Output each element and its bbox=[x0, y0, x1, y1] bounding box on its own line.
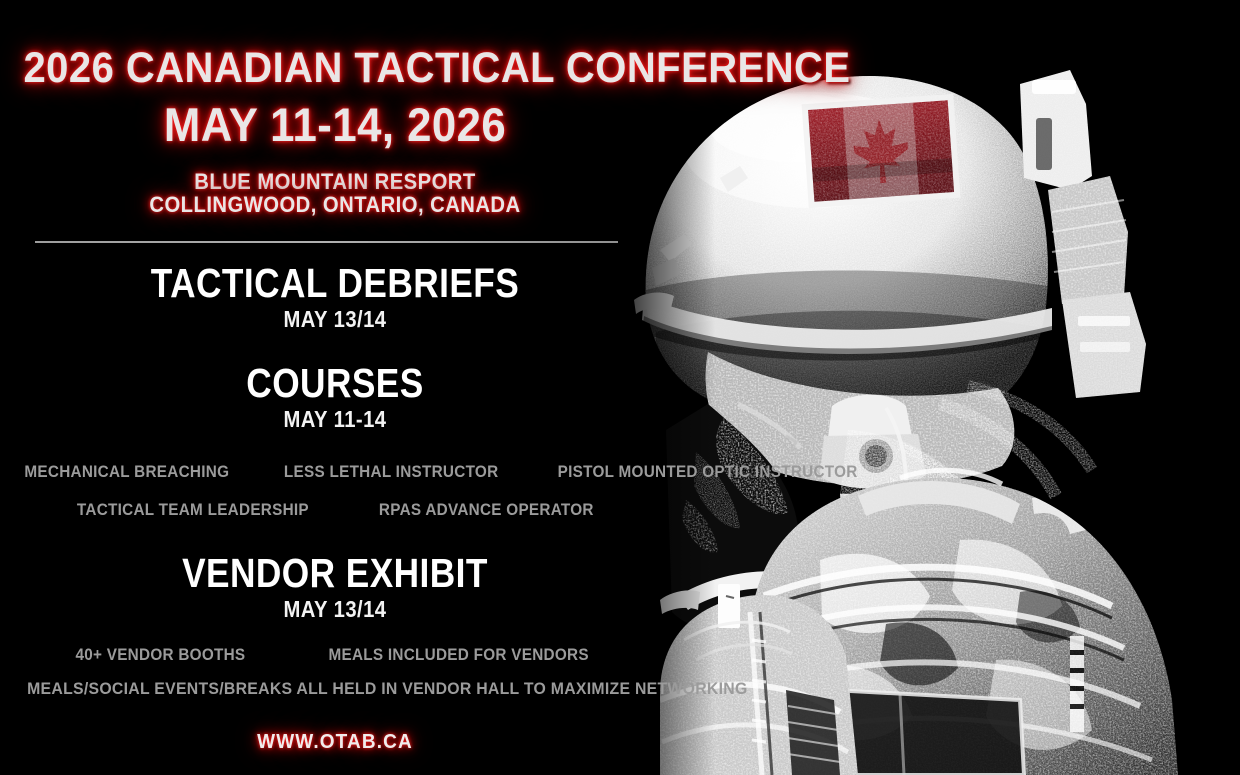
venue-location: COLLINGWOOD, ONTARIO, CANADA bbox=[27, 193, 643, 216]
vendor-info-row-2: MEALS/SOCIAL EVENTS/BREAKS ALL HELD IN V… bbox=[0, 679, 670, 699]
section-dates: MAY 11-14 bbox=[40, 405, 630, 433]
course-item: PISTOL MOUNTED OPTIC INSTRUCTOR bbox=[558, 462, 858, 482]
section-vendor-exhibit: VENDOR EXHIBIT MAY 13/14 bbox=[0, 552, 670, 623]
venue-block: BLUE MOUNTAIN RESPORT COLLINGWOOD, ONTAR… bbox=[0, 170, 670, 216]
course-item: RPAS ADVANCE OPERATOR bbox=[379, 500, 594, 520]
section-dates: MAY 13/14 bbox=[40, 305, 630, 333]
section-dates: MAY 13/14 bbox=[40, 595, 630, 623]
course-item: TACTICAL TEAM LEADERSHIP bbox=[77, 500, 309, 520]
poster-text-column: 2026 CANADIAN TACTICAL CONFERENCE MAY 11… bbox=[0, 0, 670, 775]
page-title: 2026 CANADIAN TACTICAL CONFERENCE bbox=[23, 46, 646, 90]
section-courses: COURSES MAY 11-14 bbox=[0, 362, 670, 433]
vendor-info-row-1: 40+ VENDOR BOOTHS MEALS INCLUDED FOR VEN… bbox=[0, 645, 670, 665]
course-item: MECHANICAL BREACHING bbox=[24, 462, 229, 482]
vendor-item: 40+ VENDOR BOOTHS bbox=[76, 645, 246, 665]
vendor-networking-note: MEALS/SOCIAL EVENTS/BREAKS ALL HELD IN V… bbox=[27, 679, 747, 699]
course-list-row-1: MECHANICAL BREACHING LESS LETHAL INSTRUC… bbox=[0, 462, 670, 482]
conference-dates: MAY 11-14, 2026 bbox=[23, 100, 646, 150]
section-heading: VENDOR EXHIBIT bbox=[47, 552, 623, 595]
section-tactical-debriefs: TACTICAL DEBRIEFS MAY 13/14 bbox=[0, 262, 670, 333]
course-list-row-2: TACTICAL TEAM LEADERSHIP RPAS ADVANCE OP… bbox=[0, 500, 670, 520]
venue-name: BLUE MOUNTAIN RESPORT bbox=[27, 170, 643, 193]
vendor-item: MEALS INCLUDED FOR VENDORS bbox=[329, 645, 589, 665]
website-link[interactable]: WWW.OTAB.CA bbox=[17, 731, 654, 754]
course-item: LESS LETHAL INSTRUCTOR bbox=[284, 462, 498, 482]
section-heading: COURSES bbox=[47, 362, 623, 405]
section-heading: TACTICAL DEBRIEFS bbox=[47, 262, 623, 305]
section-divider bbox=[35, 241, 618, 243]
soldier-artwork bbox=[600, 0, 1240, 775]
conference-poster: 2026 CANADIAN TACTICAL CONFERENCE MAY 11… bbox=[0, 0, 1240, 775]
